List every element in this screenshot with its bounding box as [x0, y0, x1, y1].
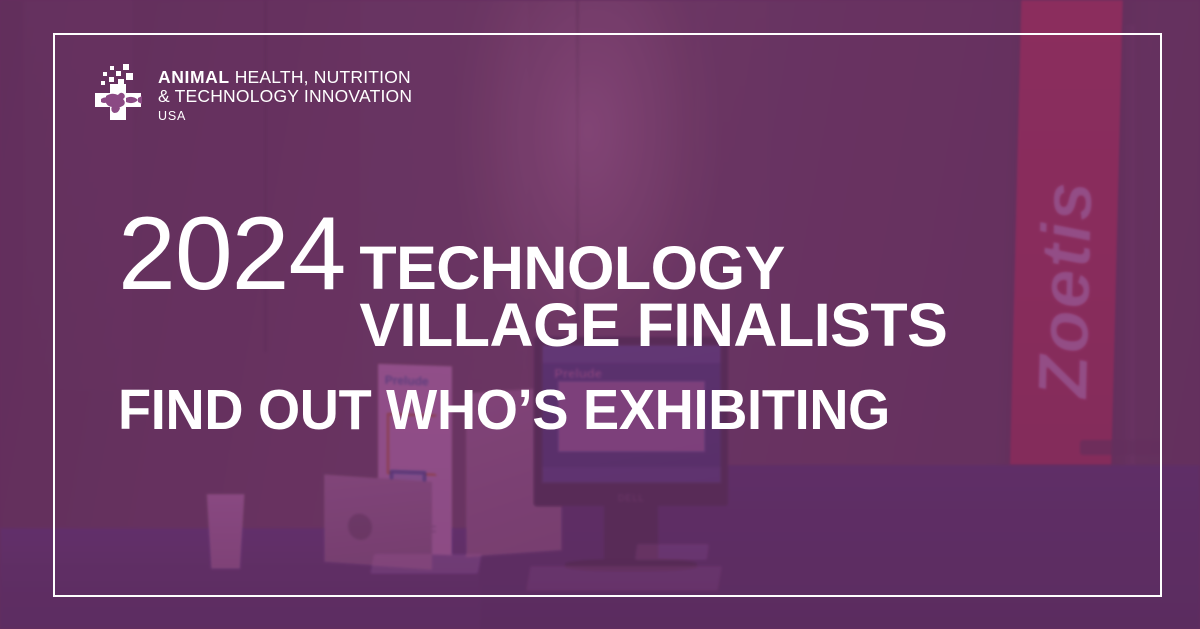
- headline-row-1: 2024 TECHNOLOGY VILLAGE FINALISTS: [118, 206, 947, 354]
- logo-line-2: & TECHNOLOGY INNOVATION: [158, 87, 412, 106]
- logo-line-1: ANIMAL HEALTH, NUTRITION: [158, 68, 412, 87]
- promo-banner: Zoetis: [0, 0, 1200, 629]
- headline-subline: FIND OUT WHO’S EXHIBITING: [118, 380, 906, 440]
- logo-wordmark: ANIMAL HEALTH, NUTRITION & TECHNOLOGY IN…: [158, 60, 412, 124]
- logo-region: USA: [158, 108, 412, 124]
- headline-year: 2024: [118, 206, 345, 302]
- logo-word-animal: ANIMAL: [158, 67, 230, 87]
- headline-title-stack: TECHNOLOGY VILLAGE FINALISTS: [359, 240, 947, 354]
- headline-line-1: TECHNOLOGY: [359, 240, 947, 297]
- headline-line-2: VILLAGE FINALISTS: [359, 297, 947, 354]
- animal-health-cross-pixel-icon: [88, 60, 146, 122]
- headline-block: 2024 TECHNOLOGY VILLAGE FINALISTS FIND O…: [118, 206, 947, 440]
- logo-line-1-light: HEALTH, NUTRITION: [235, 67, 411, 87]
- event-logo: ANIMAL HEALTH, NUTRITION & TECHNOLOGY IN…: [88, 60, 412, 124]
